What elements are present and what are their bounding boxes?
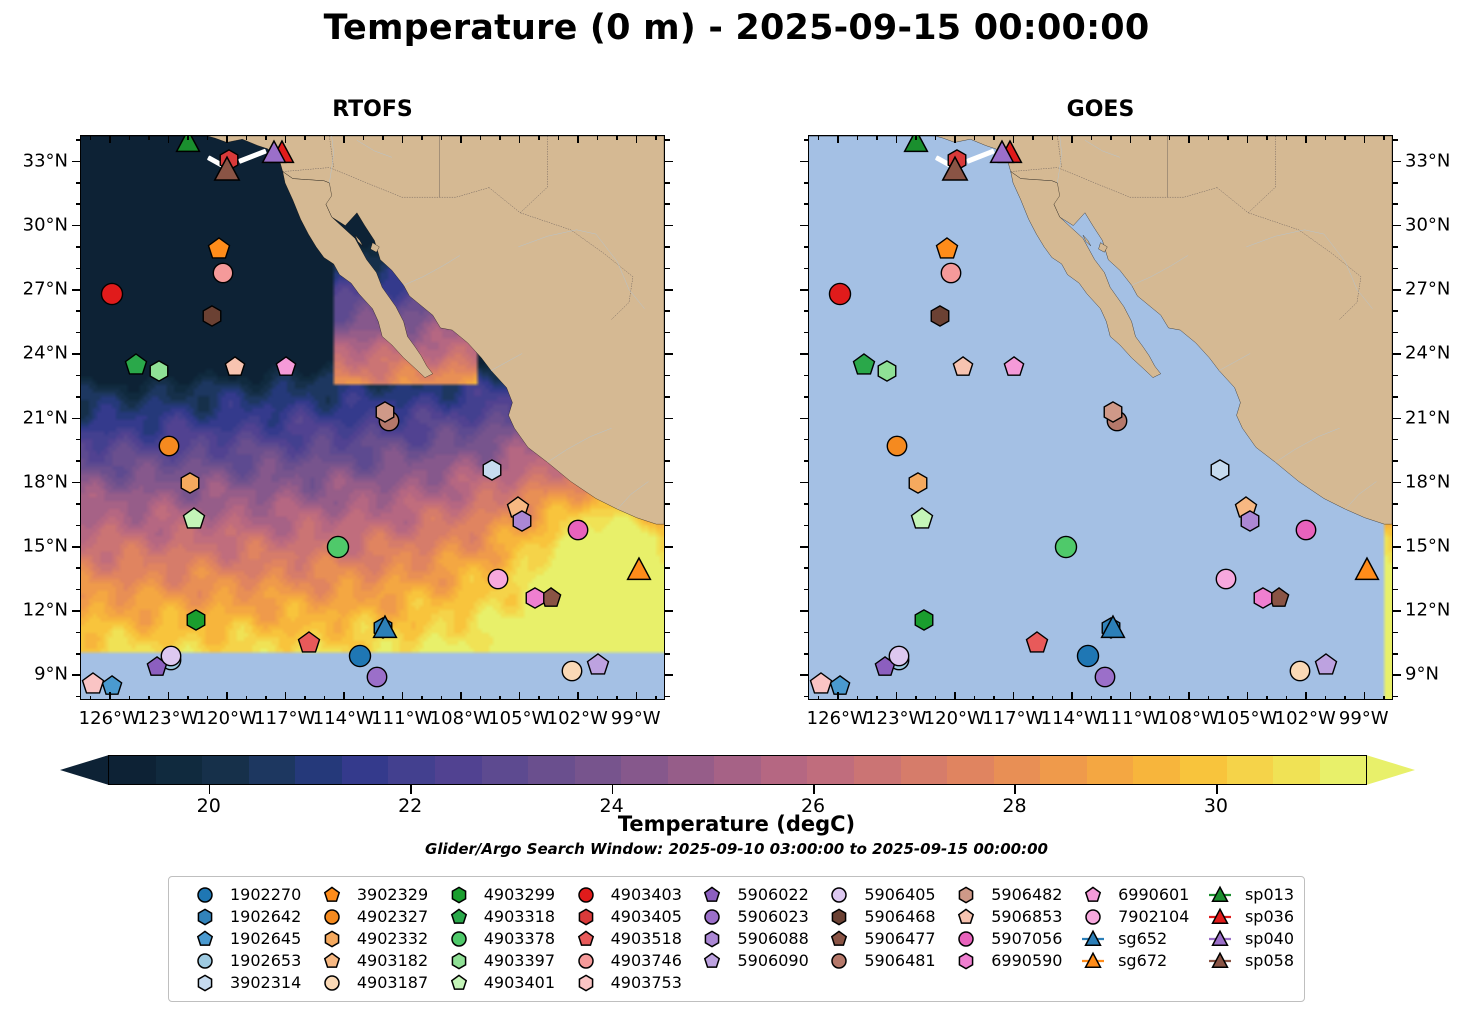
legend-label: 1902642	[230, 907, 301, 926]
x-tick	[1364, 135, 1366, 143]
panel-title-goes: GOES	[808, 97, 1393, 122]
x-tick	[954, 692, 956, 700]
colorbar-sublabel: Glider/Argo Search Window: 2025-09-10 03…	[0, 840, 1473, 858]
x-tick	[558, 135, 560, 140]
x-tick	[577, 135, 579, 143]
colorbar-band-20	[1040, 756, 1087, 784]
map-marker-4903397[interactable]	[148, 360, 170, 382]
colorbar-tick	[1216, 785, 1218, 794]
legend-label: 6990590	[991, 951, 1062, 970]
map-marker-5906468[interactable]	[929, 305, 951, 327]
x-tick-label: 120°W	[196, 708, 257, 729]
pentagon-marker-icon	[314, 951, 350, 971]
legend-box: 1902270190264219026451902653390231439023…	[168, 876, 1305, 1002]
y-tick	[76, 567, 81, 569]
x-tick	[324, 135, 326, 140]
legend-item-3902314[interactable]: 3902314	[179, 972, 304, 993]
x-tick	[265, 696, 267, 701]
legend-item-5906481[interactable]: 5906481	[813, 950, 938, 971]
y-tick	[665, 289, 673, 291]
y-tick	[665, 182, 670, 184]
y-tick	[1393, 353, 1401, 355]
y-tick	[665, 610, 673, 612]
colorbar-band-6	[388, 756, 435, 784]
map-marker-3902329[interactable]	[935, 237, 959, 261]
map-marker-sg652[interactable]	[372, 615, 398, 641]
legend-label: sp058	[1245, 951, 1294, 970]
x-tick	[818, 135, 820, 140]
x-tick	[207, 135, 209, 140]
x-tick	[343, 692, 345, 700]
map-marker-5906090[interactable]	[1314, 653, 1338, 677]
colorbar-tick	[612, 785, 614, 794]
x-tick	[168, 692, 170, 700]
legend-label: 5906477	[864, 929, 935, 948]
map-marker-sp040[interactable]	[261, 140, 287, 166]
legend-item-4903401[interactable]: 4903401	[433, 972, 558, 993]
map-marker-4903746[interactable]	[211, 261, 235, 285]
map-marker-4903187[interactable]	[1288, 659, 1312, 683]
y-tick-label: 9°N	[0, 664, 68, 685]
map-marker-5906023[interactable]	[365, 665, 389, 689]
figure-title: Temperature (0 m) - 2025-09-15 00:00:00	[0, 8, 1473, 48]
legend-item-5906468[interactable]: 5906468	[813, 906, 938, 927]
legend-label: sp040	[1245, 929, 1294, 948]
legend-item-sp036[interactable]: sp036	[1194, 906, 1294, 927]
hexagon-marker-icon	[568, 973, 604, 993]
colorbar-band-19	[994, 756, 1041, 784]
legend-item-4903299[interactable]: 4903299	[433, 884, 558, 905]
legend-item-5906022[interactable]: 5906022	[686, 884, 811, 905]
legend-label: 4903753	[611, 973, 682, 992]
y-tick	[1393, 460, 1398, 462]
x-tick	[655, 135, 657, 140]
y-tick	[665, 567, 670, 569]
legend-item-5906088[interactable]: 5906088	[686, 928, 811, 949]
legend-item-6990601[interactable]: 6990601	[1067, 884, 1192, 905]
map-marker-4903403[interactable]	[99, 281, 125, 307]
y-tick-label: 12°N	[0, 600, 68, 621]
x-tick	[285, 135, 287, 143]
x-tick-label: 108°W	[1158, 708, 1219, 729]
legend-item-1902642[interactable]: 1902642	[179, 906, 304, 927]
x-tick	[1208, 696, 1210, 701]
pentagon-marker-icon	[948, 907, 984, 927]
legend-label: 5906405	[864, 885, 935, 904]
y-tick	[804, 396, 809, 398]
colorbar-tick	[1014, 785, 1016, 794]
legend-item-4903318[interactable]: 4903318	[433, 906, 558, 927]
hexagon-marker-icon	[187, 907, 223, 927]
pentagon-marker-icon	[821, 929, 857, 949]
y-tick	[76, 332, 81, 334]
x-tick	[655, 696, 657, 701]
map-marker-4903401[interactable]	[182, 507, 206, 531]
x-tick	[636, 135, 638, 143]
legend-item-sp040[interactable]: sp040	[1194, 928, 1294, 949]
map-marker-4903518[interactable]	[1025, 631, 1049, 655]
y-tick	[1393, 525, 1398, 527]
map-marker-5906482[interactable]	[374, 401, 396, 423]
legend-label: sp036	[1245, 907, 1294, 926]
y-tick	[665, 653, 670, 655]
circle-marker-icon	[314, 973, 350, 993]
x-tick	[1266, 696, 1268, 701]
map-marker-4903753[interactable]	[809, 672, 833, 696]
x-tick	[935, 696, 937, 701]
circle-marker-icon	[314, 907, 350, 927]
x-tick	[460, 135, 462, 143]
y-tick	[665, 674, 673, 676]
map-marker-sg672[interactable]	[626, 557, 652, 583]
x-tick-label: 120°W	[924, 708, 985, 729]
legend-item-5906023[interactable]: 5906023	[686, 906, 811, 927]
map-panel-rtofs[interactable]	[80, 135, 665, 700]
legend-item-5906477[interactable]: 5906477	[813, 928, 938, 949]
y-tick-label: 12°N	[1405, 600, 1450, 621]
legend-item-sg672[interactable]: sg672	[1067, 950, 1192, 971]
y-tick	[76, 268, 81, 270]
x-tick	[1091, 135, 1093, 140]
x-tick	[1286, 135, 1288, 140]
y-tick	[1393, 610, 1401, 612]
map-marker-sp058[interactable]	[213, 156, 241, 184]
y-tick	[1393, 589, 1398, 591]
legend-label: 5906090	[737, 951, 808, 970]
y-tick	[1393, 332, 1398, 334]
legend-item-sg652[interactable]: sg652	[1067, 928, 1192, 949]
map-marker-4902327[interactable]	[157, 434, 181, 458]
x-tick	[915, 135, 917, 140]
pentagon-marker-icon	[441, 973, 477, 993]
x-tick	[382, 135, 384, 140]
y-tick-label: 15°N	[0, 535, 68, 556]
map-marker-4903401[interactable]	[910, 507, 934, 531]
legend-label: 4903299	[484, 885, 555, 904]
x-tick	[402, 692, 404, 700]
legend-item-7902104[interactable]: 7902104	[1067, 906, 1192, 927]
y-tick-label: 24°N	[0, 343, 68, 364]
x-tick-label: 123°W	[137, 708, 198, 729]
map-marker-sp040[interactable]	[989, 140, 1015, 166]
x-tick	[460, 692, 462, 700]
x-tick-label: 99°W	[611, 708, 661, 729]
y-tick	[1393, 632, 1398, 634]
y-tick	[665, 460, 670, 462]
map-marker-3902329[interactable]	[207, 237, 231, 261]
y-tick	[1393, 310, 1398, 312]
map-marker-4903318[interactable]	[852, 353, 876, 377]
legend-label: 5906022	[737, 885, 808, 904]
map-marker-4903746[interactable]	[939, 261, 963, 285]
legend-item-5906853[interactable]: 5906853	[940, 906, 1065, 927]
y-tick	[1393, 653, 1398, 655]
legend-item-sp058[interactable]: sp058	[1194, 950, 1294, 971]
map-marker-5906088[interactable]	[511, 510, 533, 532]
y-tick	[804, 653, 809, 655]
y-tick	[72, 610, 80, 612]
legend-item-4903405[interactable]: 4903405	[560, 906, 685, 927]
map-marker-5906090[interactable]	[586, 653, 610, 677]
map-marker-6990590[interactable]	[1252, 587, 1274, 609]
y-tick	[665, 139, 670, 141]
x-tick	[1149, 696, 1151, 701]
y-tick	[76, 696, 81, 698]
y-tick	[76, 396, 81, 398]
hexagon-marker-icon	[948, 951, 984, 971]
map-marker-3902314[interactable]	[1209, 459, 1231, 481]
map-marker-5906853[interactable]	[952, 356, 974, 378]
y-tick	[76, 589, 81, 591]
map-marker-4903299[interactable]	[913, 609, 935, 631]
y-tick	[800, 289, 808, 291]
y-tick	[665, 589, 670, 591]
y-tick	[72, 353, 80, 355]
circle-marker-icon	[948, 929, 984, 949]
colorbar-band-22	[1133, 756, 1180, 784]
x-tick	[577, 692, 579, 700]
colorbar-band-13	[714, 756, 761, 784]
y-tick	[1393, 546, 1401, 548]
map-marker-4903318[interactable]	[124, 353, 148, 377]
y-tick	[76, 632, 81, 634]
legend-item-4903403[interactable]: 4903403	[560, 884, 685, 905]
legend-item-1902270[interactable]: 1902270	[179, 884, 304, 905]
map-marker-5906088[interactable]	[1239, 510, 1261, 532]
hexagon-marker-icon	[441, 885, 477, 905]
x-tick	[1071, 692, 1073, 700]
x-tick	[993, 135, 995, 140]
map-marker-5907056[interactable]	[1294, 518, 1318, 542]
x-tick	[1227, 135, 1229, 140]
map-marker-5906405[interactable]	[159, 644, 183, 668]
legend-label: 4903397	[484, 951, 555, 970]
y-tick	[72, 418, 80, 420]
hexagon-marker-icon	[314, 929, 350, 949]
legend-label: 5906853	[991, 907, 1062, 926]
colorbar-band-17	[901, 756, 948, 784]
x-tick	[1208, 135, 1210, 140]
circle-marker-icon	[821, 885, 857, 905]
legend-item-5907056[interactable]: 5907056	[940, 928, 1065, 949]
map-marker-3902314[interactable]	[481, 459, 503, 481]
y-tick	[1393, 246, 1398, 248]
y-tick	[804, 332, 809, 334]
x-tick	[954, 135, 956, 143]
x-tick	[538, 696, 540, 701]
legend-item-4903746[interactable]: 4903746	[560, 950, 685, 971]
x-tick	[207, 696, 209, 701]
legend-label: 4903518	[611, 929, 682, 948]
map-marker-4903299[interactable]	[185, 609, 207, 631]
legend-label: 1902645	[230, 929, 301, 948]
map-panel-goes[interactable]	[808, 135, 1393, 700]
legend-label: 4903401	[484, 973, 555, 992]
map-marker-5906405[interactable]	[887, 644, 911, 668]
map-marker-sg672[interactable]	[1354, 557, 1380, 583]
legend-item-4902327[interactable]: 4902327	[306, 906, 431, 927]
circle-marker-icon	[1075, 907, 1111, 927]
map-marker-6990601[interactable]	[1003, 356, 1025, 378]
map-marker-4903187[interactable]	[560, 659, 584, 683]
legend-item-4903187[interactable]: 4903187	[306, 972, 431, 993]
y-tick	[1393, 139, 1398, 141]
x-tick	[993, 696, 995, 701]
map-marker-5906482[interactable]	[1102, 401, 1124, 423]
triangle-line-marker-icon	[1202, 907, 1238, 927]
map-marker-6990601[interactable]	[275, 356, 297, 378]
x-tick	[90, 696, 92, 701]
legend-item-sp013[interactable]: sp013	[1194, 884, 1294, 905]
map-marker-5906468[interactable]	[201, 305, 223, 327]
map-marker-sg652[interactable]	[1100, 615, 1126, 641]
pentagon-marker-icon	[441, 907, 477, 927]
y-tick	[1393, 375, 1398, 377]
x-tick	[1130, 692, 1132, 700]
legend-label: 4903405	[611, 907, 682, 926]
y-tick	[76, 439, 81, 441]
map-marker-4902327[interactable]	[885, 434, 909, 458]
x-tick	[441, 135, 443, 140]
legend-label: 4903182	[357, 951, 428, 970]
x-tick	[1364, 692, 1366, 700]
map-marker-5906853[interactable]	[224, 356, 246, 378]
y-tick	[1393, 289, 1401, 291]
x-tick	[915, 696, 917, 701]
pentagon-marker-icon	[1075, 885, 1111, 905]
legend-item-5906482[interactable]: 5906482	[940, 884, 1065, 905]
x-tick	[499, 135, 501, 140]
legend-label: sp013	[1245, 885, 1294, 904]
legend-item-1902653[interactable]: 1902653	[179, 950, 304, 971]
legend-item-4903518[interactable]: 4903518	[560, 928, 685, 949]
map-marker-sp058[interactable]	[941, 156, 969, 184]
hexagon-marker-icon	[948, 885, 984, 905]
legend-label: 5906482	[991, 885, 1062, 904]
colorbar-band-25	[1273, 756, 1320, 784]
y-tick	[800, 546, 808, 548]
x-tick	[1305, 135, 1307, 143]
x-tick	[499, 696, 501, 701]
legend-item-4903753[interactable]: 4903753	[560, 972, 685, 993]
legend-item-1902645[interactable]: 1902645	[179, 928, 304, 949]
pentagon-marker-icon	[187, 929, 223, 949]
legend-item-5906405[interactable]: 5906405	[813, 884, 938, 905]
x-tick	[818, 696, 820, 701]
map-marker-5907056[interactable]	[566, 518, 590, 542]
x-tick	[1266, 135, 1268, 140]
x-tick	[1247, 692, 1249, 700]
x-tick	[246, 696, 248, 701]
y-tick	[1393, 482, 1401, 484]
y-tick	[665, 246, 670, 248]
legend-label: 4903318	[484, 907, 555, 926]
x-tick	[402, 135, 404, 143]
legend-item-4902332[interactable]: 4902332	[306, 928, 431, 949]
y-tick	[1393, 203, 1398, 205]
x-tick	[1305, 692, 1307, 700]
y-tick	[76, 310, 81, 312]
y-tick	[665, 525, 670, 527]
x-tick	[226, 135, 228, 143]
legend-item-4903378[interactable]: 4903378	[433, 928, 558, 949]
x-tick	[129, 696, 131, 701]
x-tick	[109, 692, 111, 700]
y-tick	[804, 268, 809, 270]
colorbar-band-11	[621, 756, 668, 784]
map-marker-4902332[interactable]	[907, 472, 929, 494]
x-tick	[1110, 135, 1112, 140]
x-tick	[1286, 696, 1288, 701]
y-tick	[665, 332, 670, 334]
x-tick	[1325, 696, 1327, 701]
pentagon-marker-icon	[694, 951, 730, 971]
map-marker-4902332[interactable]	[179, 472, 201, 494]
map-marker-4903753[interactable]	[81, 672, 105, 696]
pentagon-marker-icon	[314, 885, 350, 905]
map-marker-4903378[interactable]	[325, 534, 351, 560]
y-tick	[800, 353, 808, 355]
x-tick	[226, 692, 228, 700]
x-tick	[896, 692, 898, 700]
y-tick	[804, 696, 809, 698]
y-tick-label: 33°N	[0, 150, 68, 171]
legend-label: 3902314	[230, 973, 301, 992]
x-tick-label: 117°W	[982, 708, 1043, 729]
circle-marker-icon	[694, 907, 730, 927]
colorbar-band-0	[109, 756, 156, 784]
y-tick	[72, 225, 80, 227]
y-tick	[665, 310, 670, 312]
colorbar: 202224262830	[60, 755, 1415, 785]
legend-item-4903397[interactable]: 4903397	[433, 950, 558, 971]
map-marker-4903518[interactable]	[297, 631, 321, 655]
map-marker-6990590[interactable]	[524, 587, 546, 609]
legend-item-5906090[interactable]: 5906090	[686, 950, 811, 971]
y-tick	[665, 696, 670, 698]
legend-label: 1902270	[230, 885, 301, 904]
colorbar-extend-max-arrow	[1366, 755, 1415, 785]
map-marker-7902104[interactable]	[486, 567, 510, 591]
x-tick	[1110, 696, 1112, 701]
triangle-line-marker-icon	[1202, 951, 1238, 971]
map-marker-4903378[interactable]	[1053, 534, 1079, 560]
map-marker-5906023[interactable]	[1093, 665, 1117, 689]
y-tick-label: 21°N	[0, 407, 68, 428]
y-tick	[1393, 396, 1398, 398]
y-tick-label: 27°N	[0, 279, 68, 300]
colorbar-band-9	[528, 756, 575, 784]
x-tick	[857, 696, 859, 701]
y-tick-label: 24°N	[1405, 343, 1450, 364]
y-tick	[800, 482, 808, 484]
legend-grid: 1902270190264219026451902653390231439023…	[179, 884, 1294, 993]
x-tick	[519, 135, 521, 143]
legend-item-3902329[interactable]: 3902329	[306, 884, 431, 905]
y-tick-label: 33°N	[1405, 150, 1450, 171]
legend-item-4903182[interactable]: 4903182	[306, 950, 431, 971]
legend-item-6990590[interactable]: 6990590	[940, 950, 1065, 971]
map-marker-4903403[interactable]	[827, 281, 853, 307]
x-tick	[441, 696, 443, 701]
pentagon-marker-icon	[694, 885, 730, 905]
x-tick	[597, 135, 599, 140]
y-tick	[665, 225, 673, 227]
y-tick	[804, 525, 809, 527]
colorbar-extend-min-arrow	[60, 755, 109, 785]
map-marker-7902104[interactable]	[1214, 567, 1238, 591]
map-marker-4903397[interactable]	[876, 360, 898, 382]
